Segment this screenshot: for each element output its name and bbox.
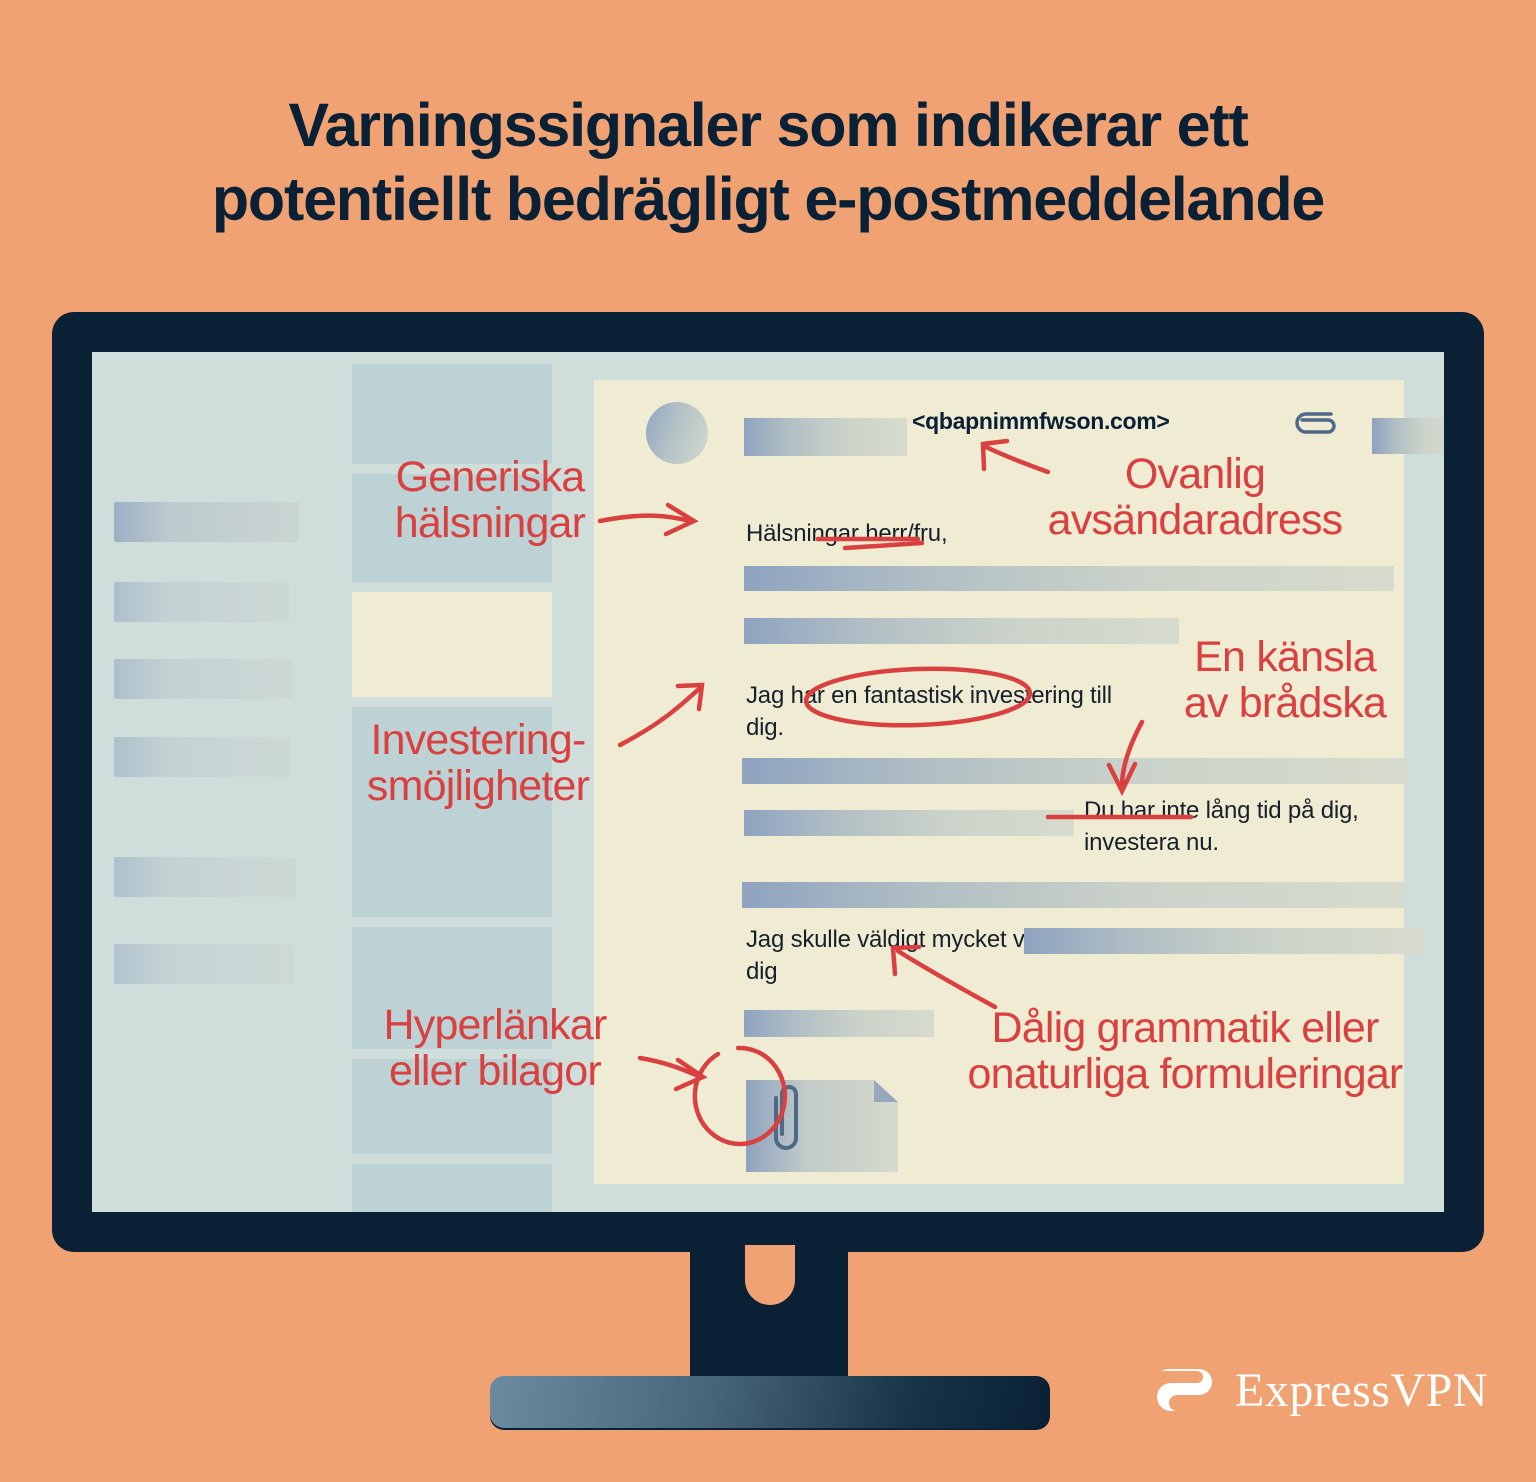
email-greeting: Hälsningar herr/fru, xyxy=(746,518,947,550)
paperclip-icon xyxy=(1294,412,1340,440)
header-placeholder-bar xyxy=(744,418,907,456)
annotation-urgency: En känsla av brådska xyxy=(1120,635,1450,726)
list-item[interactable] xyxy=(352,1164,552,1212)
monitor-stand-notch xyxy=(745,1245,795,1305)
list-item[interactable] xyxy=(352,364,552,464)
sidebar xyxy=(92,352,340,1212)
annotation-hyperlinks: Hyperlänkar eller bilagor xyxy=(340,1003,650,1094)
sidebar-item-2[interactable] xyxy=(114,582,289,622)
avatar xyxy=(646,402,708,464)
body-placeholder-bar xyxy=(742,758,1407,784)
sidebar-item-6[interactable] xyxy=(114,944,294,984)
email-body-urgency: Du har inte lång tid på dig, investera n… xyxy=(1084,795,1414,859)
page-title: Varningssignaler som indikerar ett poten… xyxy=(0,88,1536,237)
annotation-generic-greeting: Generiska hälsningar xyxy=(330,455,650,546)
annotation-unusual-sender: Ovanlig avsändaradress xyxy=(1000,452,1390,543)
page-title-line1: Varningssignaler som indikerar ett xyxy=(70,88,1466,162)
expressvpn-logo: ExpressVPN xyxy=(1155,1359,1488,1422)
annotation-bad-grammar: Dålig grammatik eller onaturliga formule… xyxy=(925,1006,1445,1097)
annotation-investment-opportunity: Investering- smöjligheter xyxy=(318,718,638,809)
expressvpn-logo-text: ExpressVPN xyxy=(1235,1363,1488,1418)
list-item-selected[interactable] xyxy=(352,592,552,697)
page-title-line2: potentiellt bedrägligt e-postmeddelande xyxy=(70,162,1466,236)
sender-address: <qbapnimmfwson.com> xyxy=(912,408,1170,435)
sidebar-item-4[interactable] xyxy=(114,737,290,777)
body-placeholder-bar xyxy=(744,810,1074,836)
infographic-root: Varningssignaler som indikerar ett poten… xyxy=(0,0,1536,1482)
expressvpn-logo-icon xyxy=(1155,1359,1217,1422)
body-placeholder-bar xyxy=(1024,928,1424,954)
header-placeholder-bar-2 xyxy=(1372,418,1444,454)
sidebar-item-3[interactable] xyxy=(114,659,292,699)
body-placeholder-bar xyxy=(744,618,1179,644)
body-placeholder-bar xyxy=(744,1010,934,1037)
body-placeholder-bar xyxy=(744,566,1394,591)
email-body-investment: Jag har en fantastisk investering till d… xyxy=(746,680,1146,744)
sidebar-item-5[interactable] xyxy=(114,857,296,897)
sidebar-item-1[interactable] xyxy=(114,502,299,542)
attachment-file[interactable] xyxy=(746,1080,906,1177)
body-placeholder-bar xyxy=(742,882,1404,908)
monitor-base xyxy=(490,1376,1050,1428)
